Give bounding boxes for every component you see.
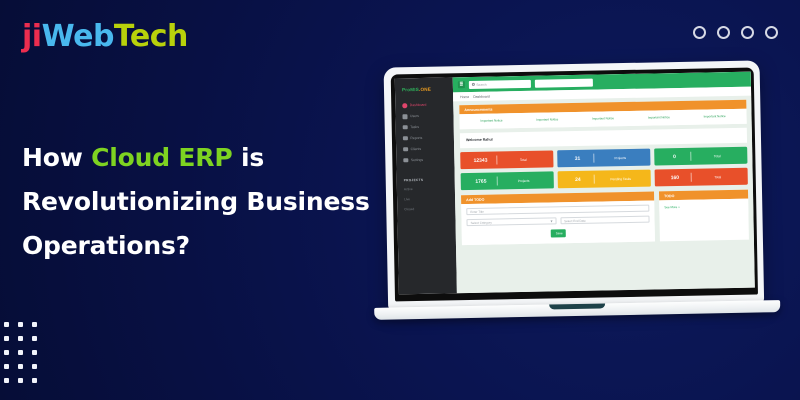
headline-line-2: Revolutionizing Business: [22, 180, 382, 224]
todo-title-placeholder: Enter Title: [470, 210, 484, 214]
sidebar-item-label: Users: [410, 114, 419, 118]
logo-text-web: Web: [42, 19, 114, 54]
erp-main-area: Search Home Dashboard Announcements: [453, 72, 755, 294]
dot-icon: [32, 378, 37, 383]
dashboard-icon: [402, 103, 407, 108]
reports-icon: [403, 136, 408, 141]
sidebar-item-label: Dashboard: [410, 103, 427, 107]
circle-icon: [741, 26, 754, 39]
stat-label: Pending Tasks: [595, 176, 647, 181]
erp-brand-part2: .ONE: [419, 87, 431, 92]
todo-category-select[interactable]: Select Category: [466, 218, 556, 227]
todo-title-input[interactable]: Enter Title: [466, 205, 649, 216]
notice-item[interactable]: Important Notice: [631, 115, 687, 120]
gear-icon: [403, 158, 408, 163]
jiwebtech-logo[interactable]: jiWebTech: [22, 22, 188, 52]
secondary-input[interactable]: [535, 78, 593, 87]
stat-value: 1765: [465, 178, 497, 185]
erp-sidebar: ProMIS.ONE Dashboard Users: [395, 77, 457, 294]
todo-field-row: Select Category Select End Date: [466, 216, 649, 231]
sidebar-subitem-closed[interactable]: Closed: [397, 204, 455, 215]
erp-content: Announcements Important Notice Important…: [453, 96, 755, 294]
sidebar-item-label: Settings: [411, 158, 423, 162]
hamburger-menu-icon[interactable]: [458, 81, 465, 88]
dot-icon: [4, 378, 9, 383]
circle-icon: [717, 26, 730, 39]
laptop-hinge-notch: [549, 303, 605, 309]
dot-icon: [32, 350, 37, 355]
notice-item[interactable]: Important Notice: [519, 117, 575, 122]
stat-label: Projects: [498, 178, 550, 183]
stat-value: 160: [659, 174, 691, 181]
dot-icon: [18, 322, 23, 327]
clients-icon: [403, 147, 408, 152]
stat-value: 12343: [464, 157, 496, 164]
headline-line-3: Operations?: [22, 224, 382, 268]
dot-icon: [18, 378, 23, 383]
see-more-link[interactable]: See More »: [664, 205, 680, 209]
todo-enddate-placeholder: Select End Date: [564, 219, 586, 223]
stat-value: 31: [561, 155, 593, 162]
sidebar-item-settings[interactable]: Settings: [396, 154, 454, 166]
stat-card[interactable]: 0 Total: [654, 147, 747, 166]
add-todo-panel: Add TODO Enter Title Select Category: [461, 192, 655, 245]
notice-item[interactable]: Important Notice: [464, 118, 520, 123]
search-placeholder: Search: [476, 82, 486, 86]
dot-icon: [32, 364, 37, 369]
erp-sidebar-nav: Dashboard Users Tasks: [395, 97, 454, 165]
dot-icon: [32, 322, 37, 327]
breadcrumb-item-dashboard[interactable]: Dashboard: [473, 94, 490, 98]
stat-value: 24: [562, 176, 594, 183]
stat-value: 0: [658, 153, 690, 160]
breadcrumb-item-home[interactable]: Home: [460, 95, 469, 99]
headline-suffix: is: [232, 143, 264, 172]
stat-label: Projects: [594, 155, 646, 160]
announcements-panel: Announcements Important Notice Important…: [459, 100, 746, 130]
todo-enddate-input[interactable]: Select End Date: [560, 216, 650, 225]
stat-label: Total: [692, 174, 744, 179]
decorative-rings: [693, 26, 778, 39]
circle-icon: [693, 26, 706, 39]
logo-text-ji: ji: [22, 19, 42, 54]
users-icon: [402, 114, 407, 119]
search-input[interactable]: Search: [469, 79, 531, 88]
notice-item[interactable]: Important Notice: [575, 116, 631, 121]
tasks-icon: [403, 125, 408, 130]
search-icon: [472, 83, 475, 86]
notice-item[interactable]: Important Notice: [687, 114, 743, 119]
erp-brand-part1: ProMIS: [402, 87, 419, 92]
dot-icon: [4, 364, 9, 369]
dot-icon: [4, 322, 9, 327]
erp-dashboard-screen: ProMIS.ONE Dashboard Users: [395, 72, 755, 295]
stat-card[interactable]: 1765 Projects: [461, 172, 554, 191]
stat-card[interactable]: 12343 Total: [460, 151, 553, 170]
laptop-mockup: ProMIS.ONE Dashboard Users: [370, 60, 781, 326]
headline-prefix: How: [22, 143, 91, 172]
todo-list-body: See More »: [659, 199, 748, 217]
erp-brand-logo[interactable]: ProMIS.ONE: [395, 81, 453, 98]
todo-category-placeholder: Select Category: [471, 220, 492, 224]
stat-label: Total: [497, 157, 549, 162]
welcome-message: Welcome Rahul: [460, 128, 747, 149]
chevron-down-icon: [550, 220, 552, 222]
dot-icon: [32, 336, 37, 341]
dot-icon: [18, 336, 23, 341]
todo-list-panel: TODO See More »: [659, 190, 749, 241]
sidebar-item-label: Tasks: [410, 125, 419, 129]
stat-card[interactable]: 31 Projects: [557, 149, 650, 168]
circle-icon: [765, 26, 778, 39]
dot-icon: [4, 350, 9, 355]
promo-banner: jiWebTech How Cloud ERP is Revolutionizi…: [0, 0, 800, 400]
dot-icon: [4, 336, 9, 341]
sidebar-item-label: Reports: [410, 136, 422, 140]
decorative-dot-grid: [0, 322, 46, 392]
headline-highlight: Cloud ERP: [91, 143, 232, 172]
page-title: How Cloud ERP is Revolutionizing Busines…: [22, 136, 382, 268]
save-button[interactable]: Save: [551, 230, 566, 238]
stat-card[interactable]: 160 Total: [655, 168, 748, 187]
stat-card[interactable]: 24 Pending Tasks: [558, 170, 651, 189]
dot-icon: [18, 350, 23, 355]
dot-icon: [18, 364, 23, 369]
bottom-panels: Add TODO Enter Title Select Category: [461, 190, 749, 249]
laptop-lid: ProMIS.ONE Dashboard Users: [384, 60, 765, 309]
add-todo-form: Enter Title Select Category: [461, 201, 655, 245]
sidebar-item-label: Clients: [411, 147, 421, 151]
stat-label: Total: [691, 153, 743, 158]
stat-card-grid: 12343 Total 31 Projects: [460, 147, 748, 191]
laptop-screen-bezel: ProMIS.ONE Dashboard Users: [391, 68, 758, 302]
headline-line-1: How Cloud ERP is: [22, 136, 382, 180]
logo-text-tech: Tech: [114, 19, 188, 54]
